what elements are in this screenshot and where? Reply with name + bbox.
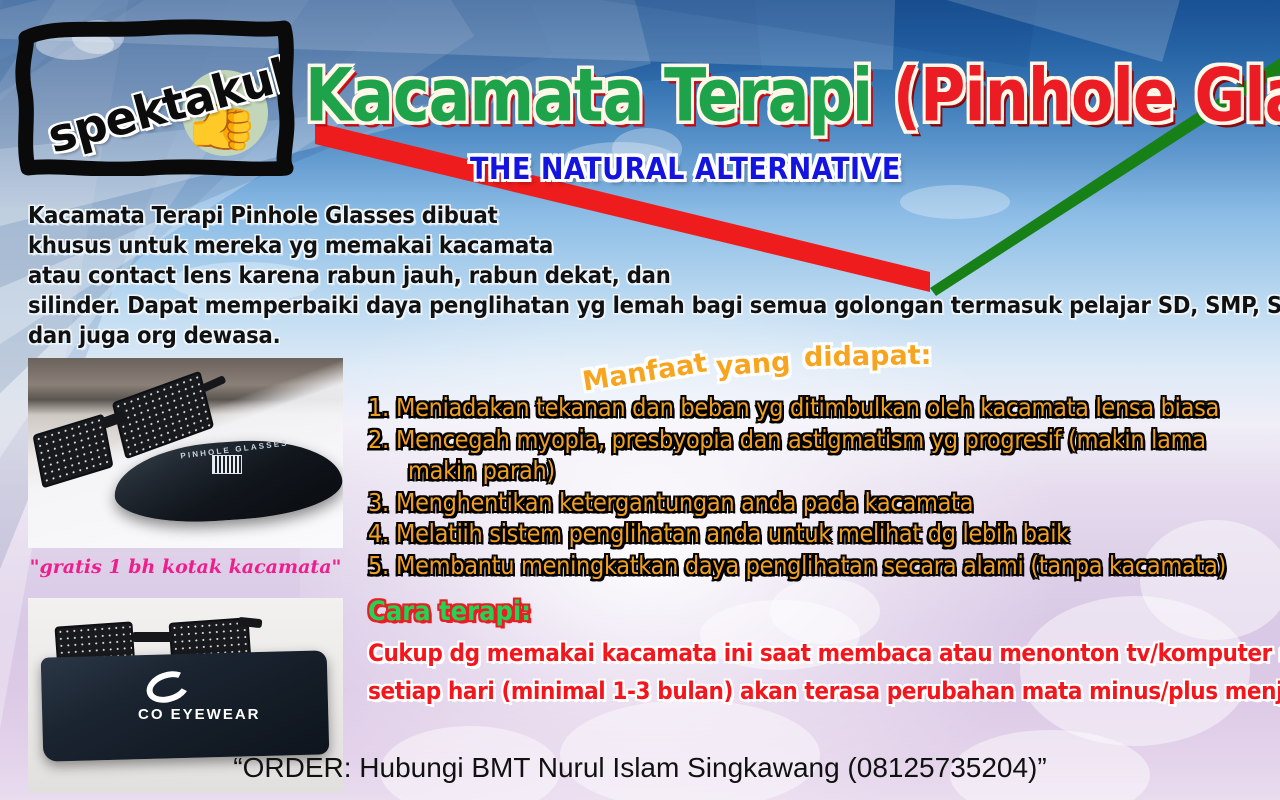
benefits-list: 1. Meniadakan tekanan dan beban yg ditim… — [368, 392, 1268, 581]
photo-caption-free-case: "gratis 1 bh kotak kacamata" — [28, 556, 343, 578]
page-title: Kacamata Terapi (Pinhole Glasses) — [305, 52, 1280, 138]
benefit-number: 3. — [368, 487, 396, 519]
benefits-heading: Manfaat yang didapat: — [568, 345, 968, 391]
benefit-number: 1. — [368, 392, 396, 424]
description-line: khusus untuk mereka yg memakai kacamata — [28, 230, 1268, 260]
glasses-bridge — [132, 632, 174, 642]
therapy-heading: Cara terapi: — [368, 596, 531, 627]
benefit-text: Menghentikan ketergantungan anda pada ka… — [396, 487, 973, 519]
description-line: Kacamata Terapi Pinhole Glasses dibuat — [28, 200, 1268, 230]
title-red-part: (Pinhole Glasses) — [893, 52, 1280, 138]
poster-canvas: 👍 spektakuler Kacamata Terapi (Pinhole G… — [0, 0, 1280, 800]
pouch-brand-label: CO EYEWEAR — [138, 706, 261, 723]
benefit-text: Melatiih sistem penglihatan anda untuk m… — [396, 518, 1069, 550]
benefit-item: 3. Menghentikan ketergantungan anda pada… — [368, 487, 1268, 519]
benefit-text: Meniadakan tekanan dan beban yg ditimbul… — [396, 392, 1219, 424]
benefit-text-continuation: makin parah) — [368, 455, 1268, 487]
therapy-body: Cukup dg memakai kacamata ini saat memba… — [368, 634, 1268, 710]
benefit-item: 4. Melatiih sistem penglihatan anda untu… — [368, 518, 1268, 550]
benefit-number: 4. — [368, 518, 396, 550]
description-line: atau contact lens karena rabun jauh, rab… — [28, 260, 1268, 290]
product-photo-case: PINHOLE GLASSES — [28, 358, 343, 548]
case-logo-icon — [212, 455, 242, 474]
benefit-item: 1. Meniadakan tekanan dan beban yg ditim… — [368, 392, 1268, 424]
benefits-heading-word: yang — [715, 346, 791, 382]
benefit-number: 5. — [368, 550, 396, 582]
benefits-heading-word: Manfaat — [580, 347, 709, 397]
benefit-text: Membantu meningkatkan daya penglihatan s… — [396, 550, 1226, 582]
badge-inner-area: 👍 spektakuler — [32, 34, 280, 160]
benefit-item: 2. Mencegah myopia, presbyopia dan astig… — [368, 424, 1268, 456]
spektakuler-badge: 👍 spektakuler — [14, 18, 298, 176]
benefit-text: Mencegah myopia, presbyopia dan astigmat… — [396, 424, 1206, 456]
description-line: silinder. Dapat memperbaiki daya penglih… — [28, 290, 1268, 320]
benefit-item: 5. Membantu meningkatkan daya penglihata… — [368, 550, 1268, 582]
order-contact-line: “ORDER: Hubungi BMT Nurul Islam Singkawa… — [0, 752, 1280, 784]
subtitle: THE NATURAL ALTERNATIVE — [470, 152, 901, 187]
description-block: Kacamata Terapi Pinhole Glasses dibuat k… — [28, 200, 1268, 350]
therapy-line: Cukup dg memakai kacamata ini saat memba… — [368, 634, 1268, 672]
benefit-number: 2. — [368, 424, 396, 456]
therapy-line: setiap hari (minimal 1-3 bulan) akan ter… — [368, 672, 1268, 710]
benefits-heading-word: didapat: — [804, 340, 932, 373]
title-green-part: Kacamata Terapi — [305, 52, 893, 138]
